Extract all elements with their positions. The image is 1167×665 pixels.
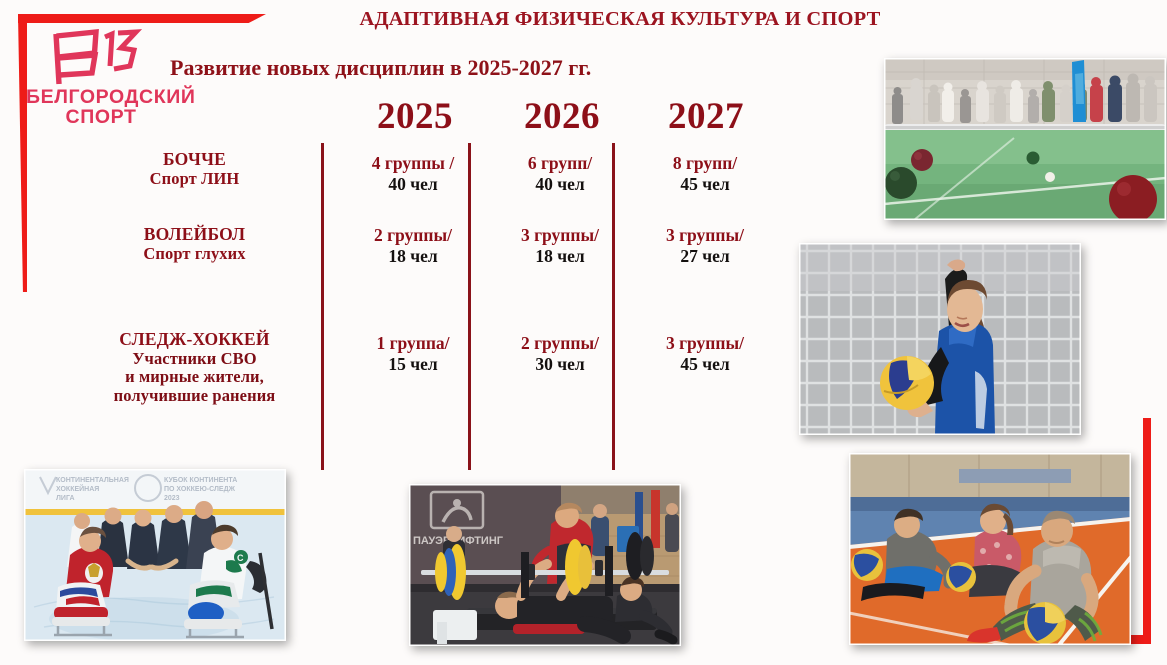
cell-groups: 3 группы/: [632, 333, 778, 354]
cell-people: 18 чел: [487, 246, 633, 267]
cell-people: 27 чел: [632, 246, 778, 267]
cell-people: 45 чел: [632, 354, 778, 375]
cell-people: 45 чел: [632, 174, 778, 195]
row-label-sub: Участники СВО: [82, 350, 307, 368]
row-label-sub: Спорт ЛИН: [82, 170, 307, 188]
column-header-2025: 2025: [345, 95, 485, 138]
svg-text:КОНТИНЕНТАЛЬНАЯ: КОНТИНЕНТАЛЬНАЯ: [56, 477, 129, 484]
svg-text:ПО ХОККЕЮ-СЛЕДЖ: ПО ХОККЕЮ-СЛЕДЖ: [164, 486, 236, 493]
frame-accent-right: [1143, 418, 1151, 644]
cell-groups: 4 группы /: [340, 153, 486, 174]
cell-groups: 2 группы/: [340, 225, 486, 246]
row-label-title: СЛЕДЖ-ХОККЕЙ: [82, 330, 307, 350]
row-label-title: ВОЛЕЙБОЛ: [82, 225, 307, 245]
cell-people: 15 чел: [340, 354, 486, 375]
cell-sledge-hockey-2025: 1 группа/ 15 чел: [340, 333, 486, 374]
cell-groups: 2 группы/: [487, 333, 633, 354]
page-title: АДАПТИВНАЯ ФИЗИЧЕСКАЯ КУЛЬТУРА И СПОРТ: [280, 8, 960, 31]
cell-people: 40 чел: [340, 174, 486, 195]
cell-groups: 3 группы/: [632, 225, 778, 246]
page-subtitle: Развитие новых дисциплин в 2025-2027 гг.: [170, 55, 591, 81]
row-label-sub: Спорт глухих: [82, 245, 307, 263]
frame-accent-top: [18, 14, 266, 23]
svg-text:ХОККЕЙНАЯ: ХОККЕЙНАЯ: [56, 484, 99, 493]
cell-volleyball-2027: 3 группы/ 27 чел: [632, 225, 778, 266]
cell-groups: 3 группы/: [487, 225, 633, 246]
svg-text:ЛИГА: ЛИГА: [56, 495, 75, 502]
row-label-volleyball: ВОЛЕЙБОЛ Спорт глухих: [82, 225, 307, 263]
flag-r31-icon: [26, 26, 176, 88]
row-label-sub3: получившие ранения: [82, 387, 307, 405]
slide-root: БЕЛГОРОДСКИЙ СПОРТ АДАПТИВНАЯ ФИЗИЧЕСКАЯ…: [0, 0, 1167, 665]
cell-people: 18 чел: [340, 246, 486, 267]
cell-groups: 6 групп/: [487, 153, 633, 174]
powerlifting-photo: ПАУЭРЛИФТИНГ: [409, 484, 681, 646]
cell-groups: 8 групп/: [632, 153, 778, 174]
bocce-court-photo: [884, 58, 1166, 220]
cell-people: 30 чел: [487, 354, 633, 375]
row-label-bocce: БОЧЧЕ Спорт ЛИН: [82, 150, 307, 188]
svg-text:2023: 2023: [164, 495, 180, 502]
row-label-sledge-hockey: СЛЕДЖ-ХОККЕЙ Участники СВО и мирные жите…: [82, 330, 307, 405]
column-header-2026: 2026: [492, 95, 632, 138]
cell-sledge-hockey-2026: 2 группы/ 30 чел: [487, 333, 633, 374]
cell-sledge-hockey-2027: 3 группы/ 45 чел: [632, 333, 778, 374]
table-header-row: 2025 2026 2027: [95, 95, 795, 143]
row-label-title: БОЧЧЕ: [82, 150, 307, 170]
cell-volleyball-2026: 3 группы/ 18 чел: [487, 225, 633, 266]
svg-text:КУБОК КОНТИНЕНТА: КУБОК КОНТИНЕНТА: [164, 477, 237, 484]
cell-bocce-2026: 6 групп/ 40 чел: [487, 153, 633, 194]
sledge-hockey-photo: КОНТИНЕНТАЛЬНАЯ ХОККЕЙНАЯ ЛИГА КУБОК КОН…: [24, 469, 286, 641]
disciplines-table: 2025 2026 2027 БОЧЧЕ Спорт ЛИН 4 группы …: [95, 95, 795, 475]
volleyball-player-photo: [799, 243, 1081, 435]
cell-volleyball-2025: 2 группы/ 18 чел: [340, 225, 486, 266]
svg-text:C: C: [237, 553, 244, 563]
cell-people: 40 чел: [487, 174, 633, 195]
sitting-volleyball-photo: [849, 453, 1131, 645]
row-label-sub2: и мирные жители,: [82, 368, 307, 386]
column-divider-1: [321, 143, 324, 470]
cell-bocce-2027: 8 групп/ 45 чел: [632, 153, 778, 194]
column-header-2027: 2027: [636, 95, 776, 138]
cell-groups: 1 группа/: [340, 333, 486, 354]
cell-bocce-2025: 4 группы / 40 чел: [340, 153, 486, 194]
